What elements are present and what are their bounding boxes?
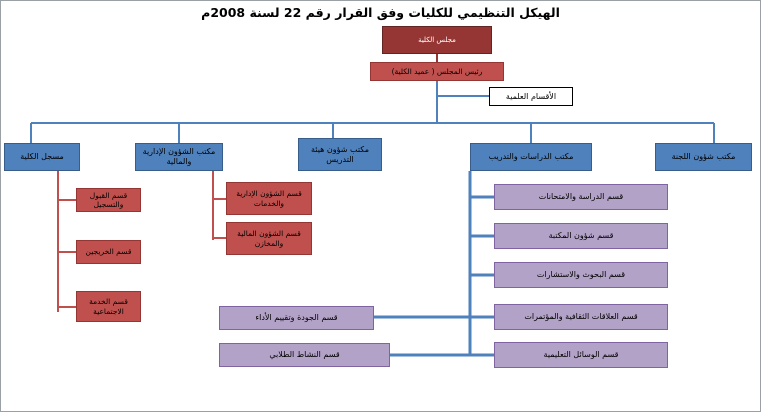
node-admin-financial-office[interactable]: مكتب الشؤون الإدارية والمالية — [135, 143, 223, 171]
node-social-service[interactable]: قسم الخدمة الاجتماعية — [76, 291, 141, 322]
node-quality-evaluation[interactable]: قسم الجودة وتقييم الأداء — [219, 306, 374, 330]
node-scientific-departments[interactable]: الأقسام العلمية — [489, 87, 573, 106]
org-chart-canvas: الهيكل التنظيمي للكليات وفق القرار رقم 2… — [0, 0, 761, 412]
node-admissions-registration[interactable]: قسم القبول والتسجيل — [76, 188, 141, 212]
node-dean[interactable]: رئيس المجلس ( عميد الكلية) — [370, 62, 504, 81]
node-educational-media[interactable]: قسم الوسائل التعليمية — [494, 342, 668, 368]
node-registrar-office[interactable]: مسجل الكلية — [4, 143, 80, 171]
node-student-activity[interactable]: قسم النشاط الطلابي — [219, 343, 390, 367]
page-title: الهيكل التنظيمي للكليات وفق القرار رقم 2… — [0, 5, 761, 20]
node-studies-training-office[interactable]: مكتب الدراسات والتدريب — [470, 143, 592, 171]
node-study-exams[interactable]: قسم الدراسة والامتحانات — [494, 184, 668, 210]
node-library-affairs[interactable]: قسم شؤون المكتبة — [494, 223, 668, 249]
node-financial-stores[interactable]: قسم الشؤون المالية والمخازن — [226, 222, 312, 255]
node-committee-affairs-office[interactable]: مكتب شؤون اللجنة — [655, 143, 752, 171]
node-cultural-relations[interactable]: قسم العلاقات الثقافية والمؤتمرات — [494, 304, 668, 330]
node-research-consulting[interactable]: قسم البحوث والاستشارات — [494, 262, 668, 288]
node-graduates[interactable]: قسم الخريجين — [76, 240, 141, 264]
node-faculty-affairs-office[interactable]: مكتب شؤون هيئة التدريس — [298, 138, 382, 171]
node-council[interactable]: مجلس الكلية — [382, 26, 492, 54]
node-admin-services[interactable]: قسم الشؤون الإدارية والخدمات — [226, 182, 312, 215]
